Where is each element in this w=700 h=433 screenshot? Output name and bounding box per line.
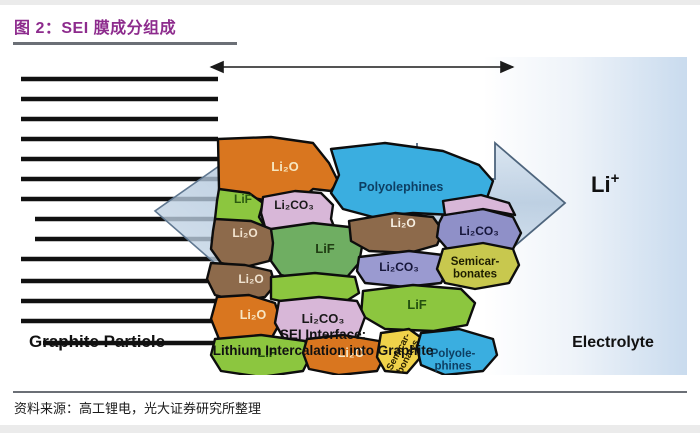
sei-grain-label: LiF	[234, 192, 252, 206]
page-top-band	[0, 0, 700, 5]
sei-interface-label-line2: Lithium Intercalation into Graphite	[213, 343, 434, 358]
graphite-particle-label: Graphite Particle	[29, 332, 165, 351]
source-note: 资料来源：高工锂电，光大证券研究所整理	[14, 398, 261, 417]
sei-grain-label: Li₂CO₃	[459, 224, 499, 238]
sei-grain-label: Li₂O	[232, 226, 257, 240]
sei-grain-label: Li₂O	[271, 159, 298, 174]
sei-grain-label: Li₂CO₃	[302, 311, 345, 326]
sei-grain-label: Li₂CO₃	[274, 198, 314, 212]
source-divider	[13, 391, 687, 393]
electrolyte-label: Electrolyte	[572, 334, 654, 351]
sei-grain-label: Li₂O	[240, 308, 267, 322]
figure-page: 图 2：SEI 膜成分组成	[0, 0, 700, 433]
sei-grain-label: LiF	[315, 241, 335, 256]
page-bottom-band	[0, 425, 700, 433]
diagram-canvas: Li₂OPolyolephinesLiFLi₂CO₃Li₂OLiFLi₂OLi₂…	[13, 57, 687, 375]
sei-grain-label: Polyolephines	[359, 180, 444, 194]
sei-grain-label: Li₂O	[390, 216, 415, 230]
title-divider	[13, 42, 237, 45]
sei-grain-label: Li₂CO₃	[379, 260, 419, 274]
sei-grain-label: Li₂O	[238, 272, 263, 286]
sei-interface-label-line1: SEI Interface:	[280, 327, 366, 342]
sei-grain-label: LiF	[407, 297, 427, 312]
page-title: 图 2：SEI 膜成分组成	[14, 14, 176, 38]
sei-grain-label: Semicar-bonates	[451, 256, 500, 281]
